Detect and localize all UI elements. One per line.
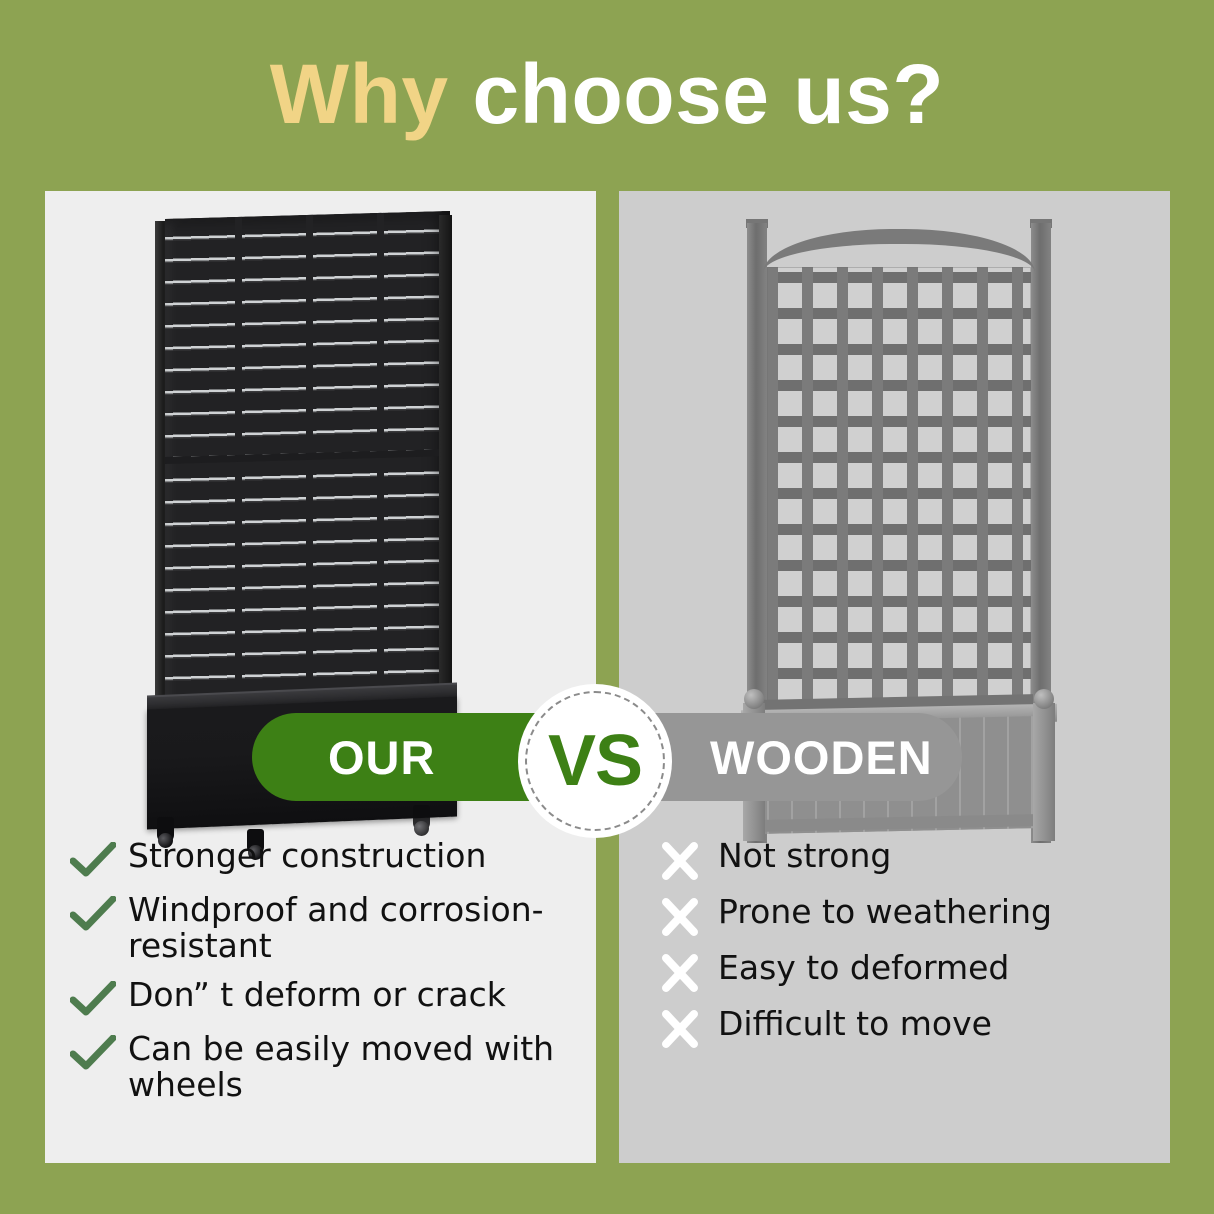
check-icon: [70, 892, 128, 932]
list-item: Stronger construction: [70, 838, 590, 878]
wood-corner-post: [743, 703, 765, 841]
cross-icon: [660, 838, 718, 880]
our-feature-list: Stronger construction Windproof and corr…: [70, 838, 590, 1117]
wood-finial-ball: [1034, 689, 1054, 709]
cross-icon: [660, 950, 718, 992]
wooden-feature-list: Not strong Prone to weathering Easy to d…: [660, 838, 1160, 1062]
cross-icon: [660, 1006, 718, 1048]
list-item: Don” t deform or crack: [70, 977, 590, 1017]
list-item-label: Difficult to move: [718, 1006, 992, 1042]
metal-right-post: [439, 215, 452, 715]
list-item-label: Stronger construction: [128, 838, 486, 874]
infographic-root: Why choose us?: [0, 0, 1214, 1214]
list-item: Can be easily moved with wheels: [70, 1031, 590, 1102]
wood-finial-ball: [744, 689, 764, 709]
list-item-label: Don” t deform or crack: [128, 977, 506, 1013]
list-item-label: Easy to deformed: [718, 950, 1009, 986]
check-icon: [70, 838, 128, 878]
metal-planter-box: [147, 697, 457, 830]
list-item-label: Prone to weathering: [718, 894, 1052, 930]
check-icon: [70, 977, 128, 1017]
list-item: Prone to weathering: [660, 894, 1160, 936]
wooden-trellis-planter-illustration: [739, 211, 1059, 851]
list-item: Easy to deformed: [660, 950, 1160, 992]
list-item: Difficult to move: [660, 1006, 1160, 1048]
list-item-label: Not strong: [718, 838, 891, 874]
cross-icon: [660, 894, 718, 936]
caster-wheel-icon: [413, 805, 430, 831]
list-item: Not strong: [660, 838, 1160, 880]
page-title-highlight: Why: [270, 47, 449, 141]
black-metal-planter-illustration: [155, 205, 460, 850]
check-icon: [70, 1031, 128, 1071]
wood-corner-post: [1033, 703, 1055, 841]
wood-lattice-grid: [767, 267, 1031, 715]
our-product-image: [45, 191, 596, 851]
page-title: Why choose us?: [0, 52, 1214, 136]
wooden-product-image: [619, 191, 1170, 851]
list-item-label: Windproof and corrosion-resistant: [128, 892, 583, 963]
page-title-rest: choose us?: [472, 47, 944, 141]
metal-louver-mullions: [165, 211, 450, 721]
list-item-label: Can be easily moved with wheels: [128, 1031, 583, 1102]
list-item: Windproof and corrosion-resistant: [70, 892, 590, 963]
